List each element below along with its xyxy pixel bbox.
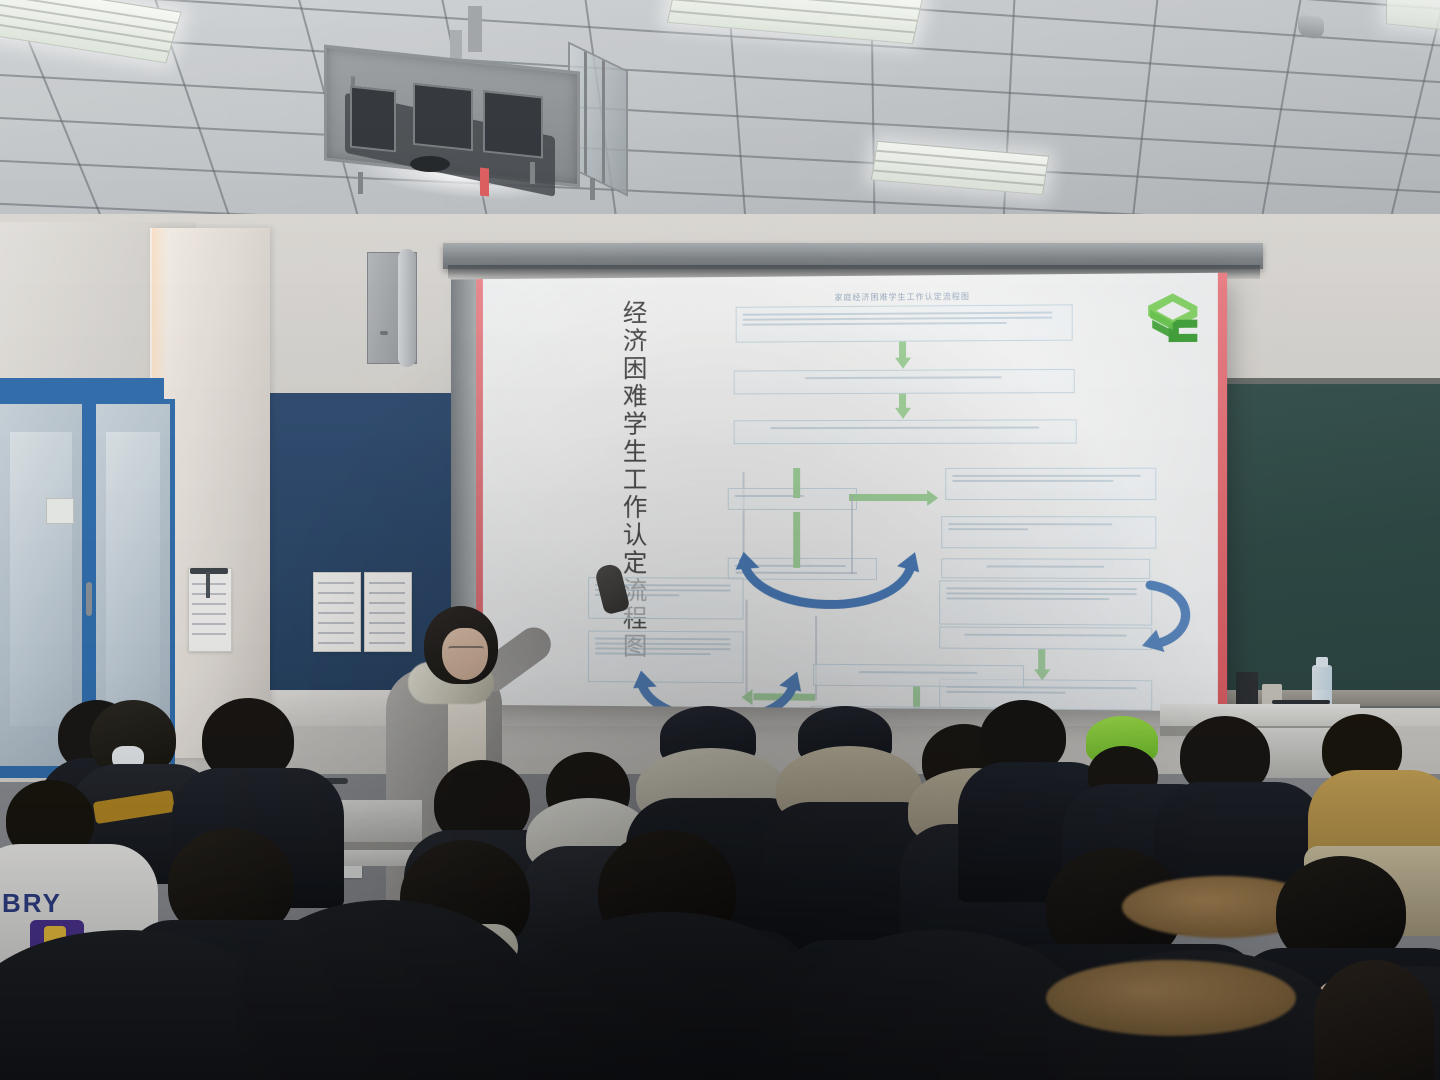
projector-mount-pole (468, 6, 482, 52)
step-box-1 (736, 304, 1073, 342)
projector-cage-foot-3 (590, 178, 595, 200)
projection-screen: 家庭经济困难学生工作认定流程图 经济困难学生工作认定流程图 (476, 273, 1227, 712)
step-box-7 (941, 516, 1156, 549)
step-box-10 (939, 626, 1152, 649)
green-arrow-3 (793, 468, 800, 498)
door-glass-right (106, 432, 160, 726)
green-arrow-6 (1038, 649, 1045, 671)
classroom-photo-scene: 家庭经济困难学生工作认定流程图 经济困难学生工作认定流程图 (0, 0, 1440, 1080)
ceiling-grid-line-h (0, 68, 1440, 157)
posted-notice-left (313, 572, 361, 652)
projector-cage-window-2 (413, 83, 473, 151)
presenter-glasses-icon (448, 646, 484, 657)
speaker-grille (398, 249, 416, 367)
projector-mount-bracket (450, 30, 462, 60)
foreground-fur-hood-trim (1046, 960, 1296, 1036)
step-box-8 (941, 558, 1150, 579)
door-handle[interactable] (86, 582, 92, 616)
projector-cage-window-1b (350, 86, 396, 153)
green-arrowhead-3 (927, 490, 938, 506)
ceiling-tile-grid (0, 0, 1440, 232)
door-glass-left (10, 432, 72, 726)
smoke-detector-icon (1298, 15, 1324, 40)
jersey-text: BRY (2, 888, 62, 919)
green-arrow-5 (849, 494, 927, 501)
chalkboard-eraser (1236, 672, 1258, 706)
right-feed-line (815, 616, 817, 700)
projector-cage-window-3 (483, 90, 543, 158)
blue-curved-arrow-1 (730, 556, 929, 635)
projector-cage-foot-1 (358, 172, 363, 194)
step-box-3 (734, 419, 1077, 444)
projector-lens-icon (410, 156, 450, 172)
projector-status-indicator (480, 168, 489, 197)
university-logo (1142, 289, 1199, 346)
ceiling-projector (318, 36, 630, 191)
green-arrowhead-2 (895, 408, 911, 419)
projector-cage-foot-2 (530, 162, 535, 184)
wall-speaker (367, 252, 417, 364)
student-mid-left-1: BRY (0, 780, 130, 950)
ceiling-grid-line-v (1122, 0, 1168, 232)
ceiling-grid-line-v (998, 0, 1019, 232)
door-posted-label (46, 498, 74, 524)
step-box-6 (945, 468, 1156, 500)
screen-border-right (1218, 273, 1227, 712)
step-box-9 (939, 580, 1152, 625)
slide-chart-heading: 家庭经济困难学生工作认定流程图 (738, 290, 1069, 304)
bottle-cap (1316, 657, 1328, 667)
step-box-15 (813, 664, 1024, 688)
ceiling-grid-line-h (0, 25, 1440, 120)
green-chalkboard (1206, 384, 1440, 690)
slide-surface: 家庭经济困难学生工作认定流程图 经济困难学生工作认定流程图 (483, 273, 1218, 711)
speaker-mount-screw (380, 331, 388, 335)
student-back-left-2 (186, 698, 316, 848)
blue-curved-arrow-2 (1142, 577, 1203, 660)
foreground-head-right (1314, 960, 1434, 1080)
ceiling (0, 0, 1440, 232)
notice-pin-icon (206, 572, 210, 598)
step-box-2 (734, 369, 1075, 395)
green-arrowhead-1 (895, 358, 911, 369)
pillar-notice (188, 568, 232, 652)
